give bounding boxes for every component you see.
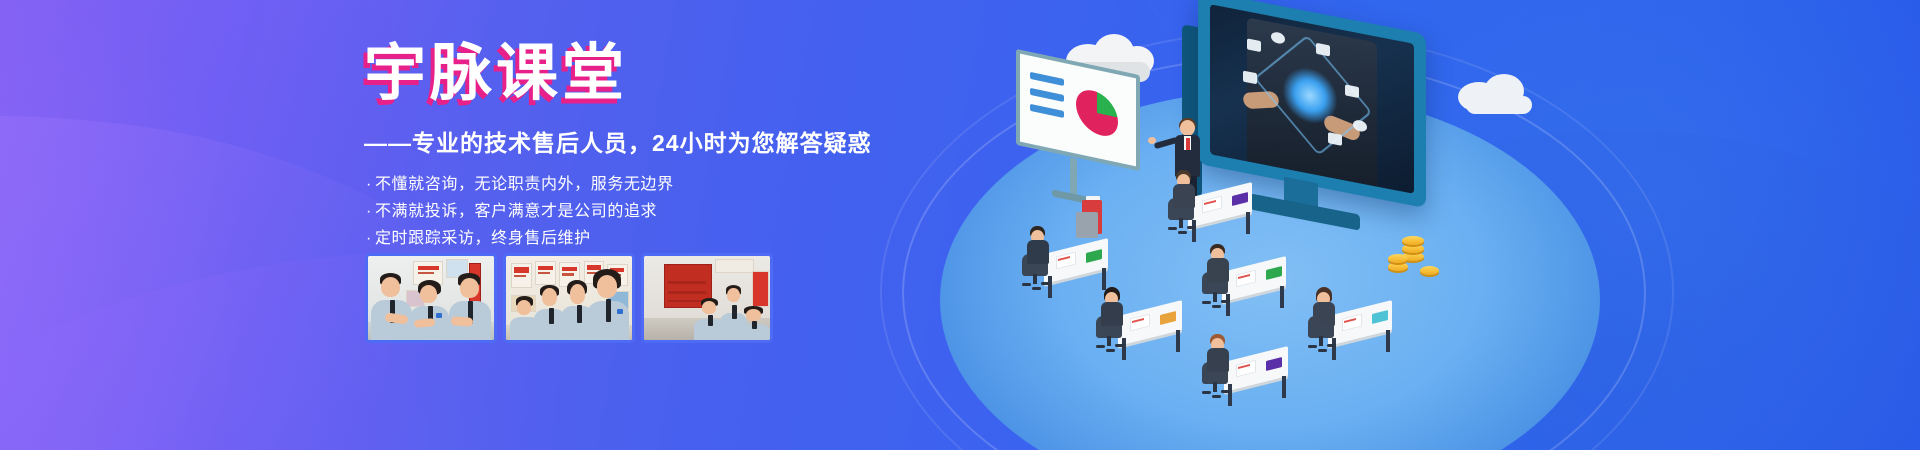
student-body: [1101, 302, 1123, 326]
bullet-dot-icon: ·: [366, 230, 372, 247]
board-text-line: [1030, 104, 1064, 118]
bullet-dot-icon: ·: [366, 176, 372, 193]
student-body: [1207, 348, 1229, 372]
banner-content: 宇脉课堂 宇脉课堂 ——专业的技术售后人员，24小时为您解答疑惑 ·不懂就咨询，…: [364, 36, 984, 253]
isometric-classroom-illustration: [880, 0, 1920, 450]
photo-person: [449, 273, 492, 340]
student-desk: [1208, 256, 1286, 308]
student-body: [1207, 258, 1229, 282]
photo-person-head: [381, 277, 400, 298]
photo-wall-frame: [511, 263, 532, 289]
student-desk: [1030, 238, 1108, 290]
teacher-tie: [1186, 138, 1190, 150]
photo-scene: [506, 256, 632, 340]
desk-leg: [1280, 286, 1284, 308]
photo-person-arm: [451, 316, 474, 326]
desk-leg: [1386, 330, 1390, 352]
student-body: [1313, 302, 1335, 326]
pie-chart: [1076, 83, 1118, 143]
photo-person-head: [746, 309, 761, 320]
list-item-label: 定时跟踪采访，终身售后维护: [375, 230, 591, 247]
photo-strip: [365, 253, 773, 343]
screen-icon: [1243, 71, 1257, 85]
photo-person-head: [597, 275, 618, 298]
list-item: ·定时跟踪采访，终身售后维护: [366, 226, 984, 251]
photo-person-badge: [617, 309, 623, 314]
photo-person-head: [460, 278, 479, 298]
desk-top: [1118, 300, 1182, 346]
photo-person-tie: [549, 308, 554, 325]
desk-leg: [1246, 212, 1250, 234]
photo-person: [737, 306, 770, 340]
photo-wall-frame: [535, 261, 556, 285]
desk-top: [1224, 346, 1288, 392]
photo-person-badge: [436, 313, 442, 318]
board-text-line: [1030, 72, 1064, 86]
chair-wheels: [1202, 389, 1230, 398]
list-item-label: 不懂就咨询，无论职责内外，服务无边界: [375, 176, 674, 193]
photo-scene: [368, 256, 494, 340]
list-item: ·不满就投诉，客户满意才是公司的追求: [366, 199, 984, 224]
photo-rack-shelf: [668, 291, 706, 294]
photo-rack-shelf: [668, 281, 706, 284]
banner-title-wrap: 宇脉课堂 宇脉课堂: [364, 36, 984, 114]
desk-leg: [1176, 330, 1180, 352]
photo-person: [371, 271, 414, 340]
photo-person-head: [420, 285, 437, 303]
photo-wall-banner: [752, 271, 769, 307]
banner-subtitle: ——专业的技术售后人员，24小时为您解答疑惑: [364, 128, 984, 158]
board-text-line: [1030, 88, 1064, 102]
photo-person: [587, 269, 630, 340]
chair-wheels: [1022, 281, 1050, 290]
student-body: [1027, 240, 1049, 264]
photo-person-tie: [752, 321, 757, 329]
photo-person-head: [542, 288, 557, 306]
team-fist-bump-photo[interactable]: [365, 253, 497, 343]
student-desk: [1174, 182, 1252, 234]
photo-person-tie: [577, 305, 582, 323]
chair-wheels: [1202, 299, 1230, 308]
photo-person-head: [517, 300, 531, 315]
photo-person-tie: [708, 315, 713, 326]
photo-person-tie: [606, 299, 611, 322]
student-desk: [1314, 300, 1392, 352]
student-body: [1173, 184, 1195, 208]
student-desk: [1104, 300, 1182, 352]
student-desk: [1210, 346, 1288, 398]
photo-person-head: [702, 301, 716, 314]
chair-wheels: [1096, 343, 1124, 352]
photo-person-head: [570, 284, 585, 303]
benefit-list: ·不懂就咨询，无论职责内外，服务无边界 ·不满就投诉，客户满意才是公司的追求 ·…: [366, 172, 984, 251]
bullet-dot-icon: ·: [366, 203, 372, 220]
photo-person: [694, 298, 724, 340]
desk-leg: [1102, 268, 1106, 290]
list-item: ·不懂就咨询，无论职责内外，服务无边界: [366, 172, 984, 197]
teacher-hand: [1148, 137, 1156, 144]
chair-wheels: [1168, 225, 1196, 234]
photo-person: [410, 280, 450, 340]
desk-leg: [1282, 376, 1286, 398]
office-staff-photo[interactable]: [641, 253, 773, 343]
backpack-body: [1076, 212, 1098, 238]
chair-wheels: [1308, 343, 1336, 352]
promo-banner: 宇脉课堂 宇脉课堂 ——专业的技术售后人员，24小时为您解答疑惑 ·不懂就咨询，…: [0, 0, 1920, 450]
teacher-head: [1180, 120, 1195, 136]
backpack-icon: [1076, 196, 1112, 240]
list-item-label: 不满就投诉，客户满意才是公司的追求: [375, 203, 657, 220]
banner-title: 宇脉课堂: [364, 36, 628, 112]
desk-top: [1044, 238, 1108, 284]
photo-person-head: [727, 288, 740, 302]
photo-scene: [644, 256, 770, 340]
team-group-photo[interactable]: [503, 253, 635, 343]
photo-wall-frame: [715, 259, 755, 273]
